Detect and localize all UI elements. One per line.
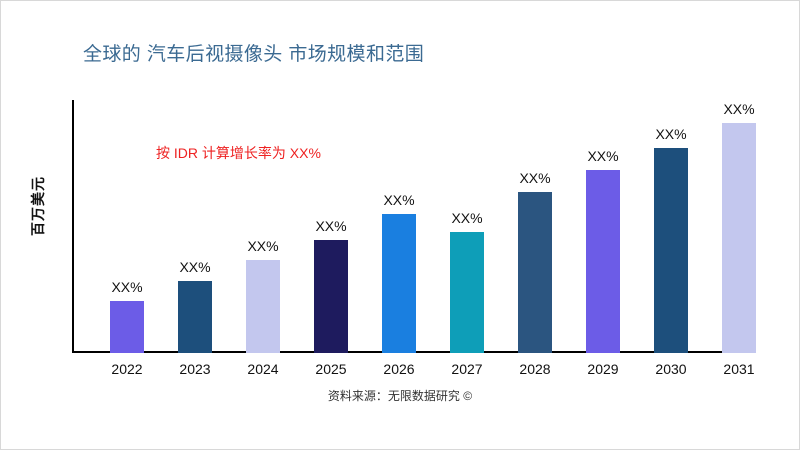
x-tick-2030: 2030 xyxy=(636,361,706,377)
bar-value-label-2024: XX% xyxy=(247,238,278,254)
bar-value-label-2026: XX% xyxy=(383,192,414,208)
bar-2025[interactable] xyxy=(314,240,348,353)
chart-title: 全球的 汽车后视摄像头 市场规模和范围 xyxy=(83,39,424,66)
bar-value-label-2029: XX% xyxy=(587,148,618,164)
bar-2028[interactable] xyxy=(518,192,552,353)
bar-value-label-2031: XX% xyxy=(723,101,754,117)
bar-value-label-2030: XX% xyxy=(655,126,686,142)
x-tick-2023: 2023 xyxy=(160,361,230,377)
bar-2027[interactable] xyxy=(450,232,484,353)
x-tick-2024: 2024 xyxy=(228,361,298,377)
bar-2022[interactable] xyxy=(110,301,144,353)
bar-2030[interactable] xyxy=(654,148,688,353)
bar-2029[interactable] xyxy=(586,170,620,353)
plot-area: XX%XX%XX%XX%XX%XX%XX%XX%XX%XX% xyxy=(72,100,728,353)
bar-value-label-2027: XX% xyxy=(451,210,482,226)
bar-2024[interactable] xyxy=(246,260,280,353)
y-axis-label: 百万美元 xyxy=(28,151,48,261)
chart-container: 全球的 汽车后视摄像头 市场规模和范围 按 IDR 计算增长率为 XX% 百万美… xyxy=(0,0,800,450)
bar-value-label-2022: XX% xyxy=(111,279,142,295)
x-tick-2026: 2026 xyxy=(364,361,434,377)
x-tick-2025: 2025 xyxy=(296,361,366,377)
x-tick-2031: 2031 xyxy=(704,361,774,377)
x-tick-2027: 2027 xyxy=(432,361,502,377)
x-tick-2028: 2028 xyxy=(500,361,570,377)
bar-value-label-2028: XX% xyxy=(519,170,550,186)
bar-value-label-2023: XX% xyxy=(179,259,210,275)
x-tick-2022: 2022 xyxy=(92,361,162,377)
bar-2026[interactable] xyxy=(382,214,416,353)
bar-2023[interactable] xyxy=(178,281,212,353)
bar-2031[interactable] xyxy=(722,123,756,353)
bar-value-label-2025: XX% xyxy=(315,218,346,234)
y-axis-line xyxy=(72,100,74,353)
source-note: 资料来源：无限数据研究 © xyxy=(1,387,799,404)
x-tick-2029: 2029 xyxy=(568,361,638,377)
